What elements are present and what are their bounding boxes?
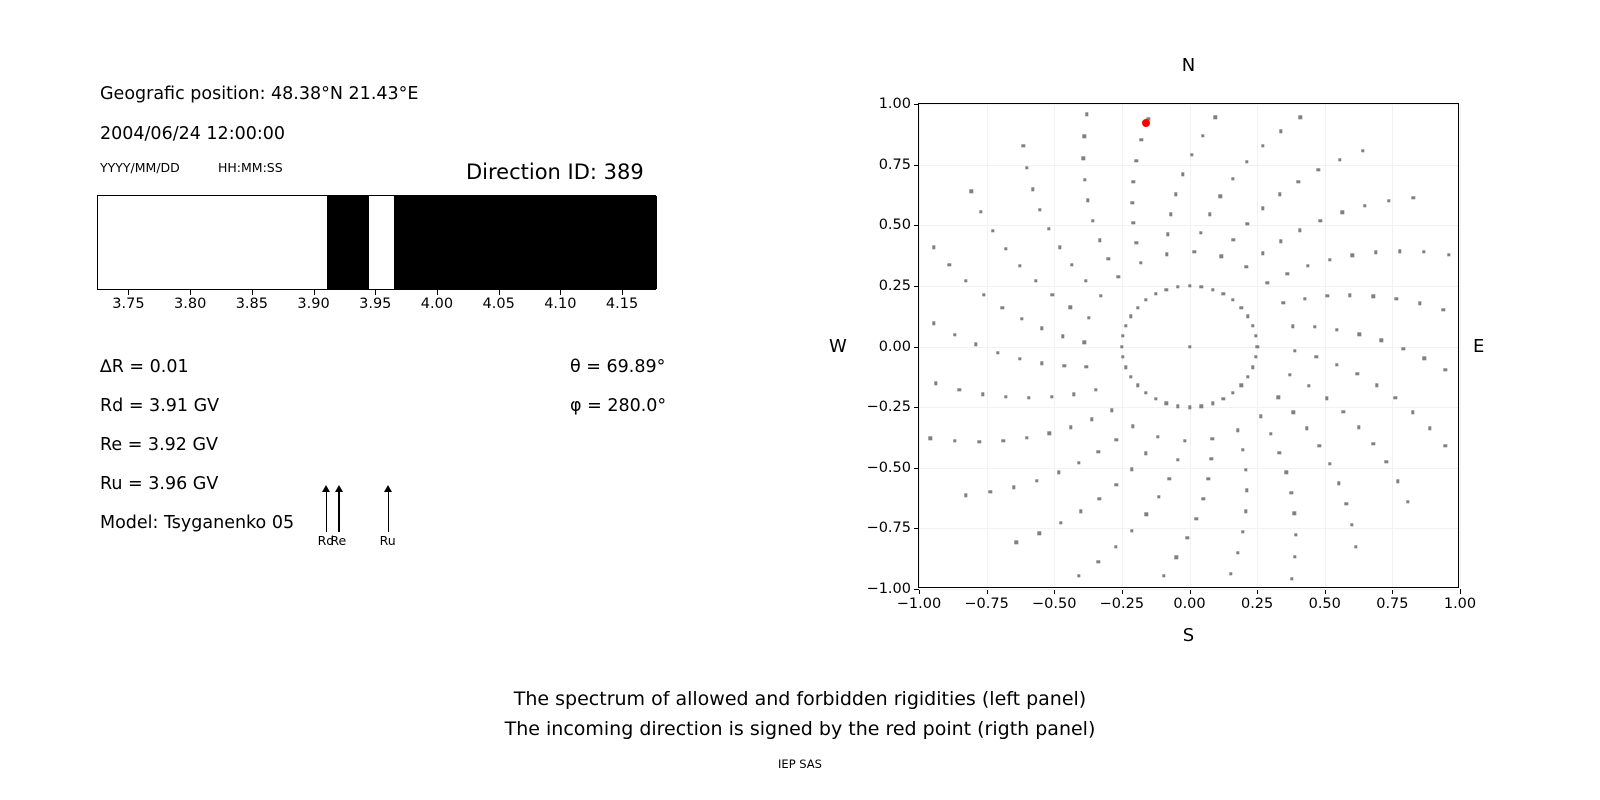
direction-grid-point [1290,577,1293,580]
direction-grid-point [1098,497,1101,500]
rigidity-marker-label: Ru [380,533,396,548]
time-format-hint: HH:MM:SS [218,160,283,175]
direction-grid-point [1082,135,1085,138]
direction-grid-point [1134,241,1137,244]
direction-grid-point [1261,252,1264,255]
direction-grid-point [1077,574,1080,577]
direction-grid-point [1325,396,1328,399]
direction-grid-point [1183,439,1186,442]
compass-label-north: N [1182,55,1195,76]
direction-grid-point [1385,460,1388,463]
direction-grid-point [1115,483,1118,486]
spectrum-tick [252,290,253,295]
direction-grid-point [1222,397,1225,400]
direction-grid-point [1068,305,1071,308]
direction-grid-point [1144,452,1147,455]
direction-grid-point [1326,294,1329,297]
direction-grid-point [1145,513,1148,516]
direction-grid-point [1027,396,1030,399]
direction-grid-point [1206,477,1209,480]
direction-grid-point [1266,281,1269,284]
spectrum-tick-label: 3.80 [174,296,206,312]
direction-grid-point [1015,541,1018,544]
direction-grid-point [1241,448,1244,451]
y-axis-tick-label: 0.25 [879,278,911,294]
direction-grid-point [1236,551,1239,554]
datetime-label: 2004/06/24 12:00:00 [100,124,285,144]
direction-grid-point [1050,395,1053,398]
direction-grid-point [1251,366,1254,369]
direction-grid-point [1186,536,1189,539]
direction-grid-point [1371,294,1374,297]
direction-grid-point [1099,294,1102,297]
direction-grid-point [979,210,982,213]
caption-line-2: The incoming direction is signed by the … [505,718,1096,740]
direction-grid-point [1401,347,1404,350]
x-axis-tick-label: 0.75 [1376,596,1408,612]
param-re: Re = 3.92 GV [100,435,218,455]
y-axis-tick [914,225,919,226]
direction-grid-point [1294,533,1297,536]
direction-grid-point [1340,211,1343,214]
direction-grid-point [1354,545,1357,548]
direction-grid-point [1176,458,1179,461]
direction-grid-point [1188,284,1191,287]
direction-grid-point [1422,250,1425,253]
direction-grid-point [1395,297,1398,300]
direction-grid-point [1097,560,1100,563]
geographic-position-label: Geografic position: 48.38°N 21.43°E [100,84,418,104]
y-axis-tick-label: 0.50 [879,217,911,233]
direction-grid-point [1236,429,1239,432]
direction-grid-point [1051,293,1054,296]
direction-grid-point [1194,517,1197,520]
direction-grid-point [1038,208,1041,211]
x-axis-tick-label: 0.50 [1309,596,1341,612]
direction-grid-point [1091,219,1094,222]
y-axis-tick [914,104,919,105]
direction-grid-point [1232,238,1235,241]
direction-grid-point [1293,555,1296,558]
direction-grid-point [1222,292,1225,295]
y-axis-tick [914,589,919,590]
direction-grid-point [1411,411,1414,414]
direction-grid-point [1115,438,1118,441]
direction-grid-point [1208,213,1211,216]
direction-grid-point [1135,159,1138,162]
y-axis-tick [914,407,919,408]
direction-grid-point [1358,333,1361,336]
direction-grid-point [1342,410,1345,413]
direction-grid-point [1034,279,1037,282]
y-axis-tick [914,528,919,529]
direction-grid-point [1110,409,1113,412]
grid-line-vertical [919,104,920,587]
spectrum-tick [499,290,500,295]
spectrum-tick-label: 3.75 [112,296,144,312]
direction-grid-point [1396,480,1399,483]
direction-grid-point [957,388,960,391]
direction-grid-point [1201,134,1204,137]
direction-grid-point [1319,219,1322,222]
direction-grid-point [1200,405,1203,408]
spectrum-tick [190,290,191,295]
y-axis-tick-label: 1.00 [879,96,911,112]
direction-id-label: Direction ID: 389 [466,160,644,184]
direction-grid-point [969,190,972,193]
direction-grid-point [1245,222,1248,225]
spectrum-tick [560,290,561,295]
direction-grid-point [1219,195,1222,198]
direction-grid-point [1166,232,1169,235]
direction-grid-point [1231,391,1234,394]
direction-grid-point [1261,144,1264,147]
direction-grid-point [1190,153,1193,156]
direction-grid-point [1240,384,1243,387]
direction-grid-point [1181,173,1184,176]
param-model: Model: Tsyganenko 05 [100,513,294,533]
direction-grid-point [1214,116,1217,119]
direction-grid-point [1175,555,1178,558]
arrow-up-icon [384,485,392,492]
spectrum-tick-label: 3.90 [297,296,329,312]
direction-grid-point [1061,334,1064,337]
spectrum-bar [97,195,656,290]
direction-grid-point [1129,375,1132,378]
direction-grid-point [1120,345,1123,348]
direction-grid-point [932,322,935,325]
direction-grid-point [1199,231,1202,234]
direction-grid-point [1305,427,1308,430]
direction-grid-point [1254,334,1257,337]
direction-grid-point [989,490,992,493]
direction-grid-point [1246,314,1249,317]
direction-grid-point [1098,239,1101,242]
spectrum-tick-label: 4.10 [544,296,576,312]
direction-grid-point [934,382,937,385]
direction-grid-point [1169,212,1172,215]
direction-grid-point [1085,113,1088,116]
y-axis-tick-label: −0.25 [867,399,911,415]
direction-grid-point [1018,264,1021,267]
direction-grid-point [1307,384,1310,387]
direction-grid-point [1350,523,1353,526]
direction-grid-point [1447,253,1450,256]
direction-grid-point [1165,288,1168,291]
direction-grid-point [1357,426,1360,429]
y-axis-tick-label: 0.75 [879,157,911,173]
direction-grid-point [1130,529,1133,532]
date-format-hint: YYYY/MM/DD [100,160,180,175]
direction-grid-point [1087,316,1090,319]
direction-grid-point [964,494,967,497]
direction-grid-point [1279,129,1282,132]
param-delta-r: ∆R = 0.01 [100,357,189,377]
arrow-shaft [388,492,389,532]
forbidden-band [394,196,657,289]
direction-grid-point [1004,247,1007,250]
direction-grid-point [1070,263,1073,266]
spectrum-tick-label: 4.15 [606,296,638,312]
direction-grid-point [1231,177,1234,180]
direction-grid-point [1374,251,1377,254]
direction-grid-point [1337,482,1340,485]
direction-grid-point [1288,373,1291,376]
direction-grid-point [1255,345,1258,348]
compass-label-west: W [829,336,847,357]
direction-grid-point [1335,328,1338,331]
direction-grid-point [1086,199,1089,202]
grid-line-horizontal [919,165,1458,166]
grid-line-horizontal [919,104,1458,105]
direction-grid-point [1245,265,1248,268]
direction-grid-point [1254,355,1257,358]
direction-grid-point [1423,357,1426,360]
arrow-shaft [338,492,339,532]
x-axis-tick-label: −0.75 [964,596,1008,612]
grid-line-vertical [1460,104,1461,587]
direction-grid-point [1240,306,1243,309]
direction-grid-point [1231,298,1234,301]
spectrum-tick [314,290,315,295]
direction-grid-point [1004,395,1007,398]
direction-grid-point [1059,521,1062,524]
compass-label-south: S [1183,625,1194,646]
grid-line-horizontal [919,468,1458,469]
direction-grid-point [1001,306,1004,309]
direction-grid-point [1443,368,1446,371]
direction-grid-point [1117,275,1120,278]
direction-grid-point [978,440,981,443]
direction-grid-point [1079,510,1082,513]
direction-grid-point [1156,435,1159,438]
direction-grid-point [1082,341,1085,344]
direction-grid-point [953,333,956,336]
direction-grid-point [1279,239,1282,242]
direction-grid-point [1144,391,1147,394]
direction-grid-point [1281,301,1284,304]
direction-grid-point [1441,308,1444,311]
direction-grid-point [1176,285,1179,288]
direction-grid-point [1361,149,1364,152]
direction-grid-point [1025,166,1028,169]
grid-line-horizontal [919,225,1458,226]
direction-grid-point [1210,437,1213,440]
direction-grid-point [1277,396,1280,399]
x-axis-tick-label: 0.25 [1241,596,1273,612]
direction-grid-point [932,246,935,249]
y-axis-tick [914,468,919,469]
direction-grid-point [1394,396,1397,399]
direction-grid-point [1328,258,1331,261]
direction-grid-point [1157,495,1160,498]
direction-grid-point [1406,500,1409,503]
grid-line-horizontal [919,528,1458,529]
direction-grid-point [1048,432,1051,435]
direction-grid-point [1077,461,1080,464]
direction-grid-point [1372,442,1375,445]
spectrum-tick-label: 3.85 [236,296,268,312]
direction-grid-point [1229,572,1232,575]
direction-grid-point [1411,196,1414,199]
direction-grid-point [1317,168,1320,171]
direction-grid-point [1261,207,1264,210]
x-axis-tick-label: 1.00 [1444,596,1476,612]
direction-grid-point [1297,180,1300,183]
x-axis-tick-label: −0.25 [1100,596,1144,612]
grid-line-horizontal [919,589,1458,590]
direction-grid-point [1085,365,1088,368]
direction-grid-point [1188,345,1191,348]
y-axis-tick-label: −0.50 [867,460,911,476]
direction-grid-point [1002,439,1005,442]
direction-grid-point [1245,489,1248,492]
direction-grid-point [1293,512,1296,515]
direction-grid-point [1269,432,1272,435]
grid-line-vertical [1054,104,1055,587]
direction-grid-point [1083,178,1086,181]
direction-grid-point [1380,339,1383,342]
direction-grid-point [1314,355,1317,358]
direction-grid-point [948,263,951,266]
spectrum-tick-label: 4.00 [421,296,453,312]
incoming-direction-chart: −1.00−0.75−0.50−0.250.000.250.500.751.00… [918,103,1459,588]
direction-grid-point [1031,188,1034,191]
param-phi: φ = 280.0° [570,396,666,416]
direction-grid-point [1097,450,1100,453]
direction-grid-point [1140,138,1143,141]
direction-grid-point [1012,485,1015,488]
direction-grid-point [1211,402,1214,405]
direction-grid-point [964,279,967,282]
direction-grid-point [1121,355,1124,358]
direction-grid-point [974,343,977,346]
direction-grid-point [1338,158,1341,161]
x-axis-tick-label: −0.50 [1032,596,1076,612]
caption-line-1: The spectrum of allowed and forbidden ri… [514,688,1086,710]
direction-grid-point [1174,193,1177,196]
grid-line-vertical [1392,104,1393,587]
direction-grid-point [1328,462,1331,465]
direction-grid-point [982,293,985,296]
direction-grid-point [1244,509,1247,512]
direction-grid-point [1303,297,1306,300]
x-axis-tick-label: −1.00 [897,596,941,612]
spectrum-tick-label: 4.05 [483,296,515,312]
direction-grid-point [1040,327,1043,330]
direction-grid-point [991,229,994,232]
direction-grid-point [1278,451,1281,454]
y-axis-tick-label: −1.00 [867,581,911,597]
direction-grid-point [1348,294,1351,297]
direction-grid-point [1313,325,1316,328]
arrow-up-icon [335,485,343,492]
direction-grid-point [1375,384,1378,387]
direction-grid-point [1241,530,1244,533]
direction-grid-point [1082,156,1085,159]
grid-line-vertical [987,104,988,587]
direction-grid-point [1188,405,1191,408]
y-axis-tick [914,286,919,287]
direction-grid-point [1285,272,1288,275]
direction-grid-point [1298,228,1301,231]
arrow-up-icon [322,485,330,492]
direction-grid-point [1200,285,1203,288]
y-axis-tick-label: −0.75 [867,520,911,536]
direction-grid-point [1306,264,1309,267]
direction-grid-point [1165,252,1168,255]
direction-grid-point [1130,468,1133,471]
spectrum-tick-label: 3.95 [359,296,391,312]
rigidity-spectrum-chart: 3.753.803.853.903.954.004.054.104.15 RdR… [97,195,656,290]
direction-grid-point [1154,397,1157,400]
direction-grid-point [1037,532,1040,535]
direction-grid-point [1293,349,1296,352]
direction-grid-point [1018,357,1021,360]
direction-grid-point [1245,160,1248,163]
direction-grid-point [1063,364,1066,367]
direction-grid-point [1132,180,1135,183]
direction-grid-point [1443,444,1446,447]
direction-grid-point [1244,468,1247,471]
direction-grid-point [1022,144,1025,147]
direction-grid-point [1211,288,1214,291]
direction-grid-point [1094,388,1097,391]
direction-grid-point [1040,362,1043,365]
direction-grid-point [1246,375,1249,378]
direction-grid-point [1355,372,1358,375]
direction-grid-point [1057,471,1060,474]
direction-grid-point [1129,314,1132,317]
direction-grid-point [1292,410,1295,413]
x-axis-tick [1460,589,1461,594]
direction-grid-point [1290,491,1293,494]
direction-grid-point [1285,471,1288,474]
direction-grid-point [1025,436,1028,439]
arrow-shaft [326,492,327,532]
direction-grid-point [1144,298,1147,301]
spectrum-tick [437,290,438,295]
incoming-direction-point [1142,119,1150,127]
direction-grid-point [1418,302,1421,305]
direction-grid-point [1193,250,1196,253]
rigidity-marker-label: Re [330,533,346,548]
grid-line-vertical [1325,104,1326,587]
y-axis-tick [914,165,919,166]
direction-grid-point [1351,254,1354,257]
param-rd: Rd = 3.91 GV [100,396,219,416]
direction-grid-point [1251,324,1254,327]
direction-grid-point [1131,424,1134,427]
polar-plot-area: −1.00−0.75−0.50−0.250.000.250.500.751.00… [918,103,1459,588]
direction-grid-point [1278,193,1281,196]
direction-grid-point [1131,201,1134,204]
x-axis-tick-label: 0.00 [1173,596,1205,612]
direction-grid-point [1345,502,1348,505]
param-theta: θ = 69.89° [570,357,665,377]
direction-grid-point [929,437,932,440]
spectrum-tick [375,290,376,295]
direction-grid-point [981,392,984,395]
direction-grid-point [1363,204,1366,207]
direction-grid-point [1136,306,1139,309]
direction-grid-point [1428,427,1431,430]
direction-grid-point [1298,116,1301,119]
direction-grid-point [1136,384,1139,387]
direction-grid-point [1114,545,1117,548]
footer-label: IEP SAS [778,757,822,771]
direction-grid-point [1072,393,1075,396]
